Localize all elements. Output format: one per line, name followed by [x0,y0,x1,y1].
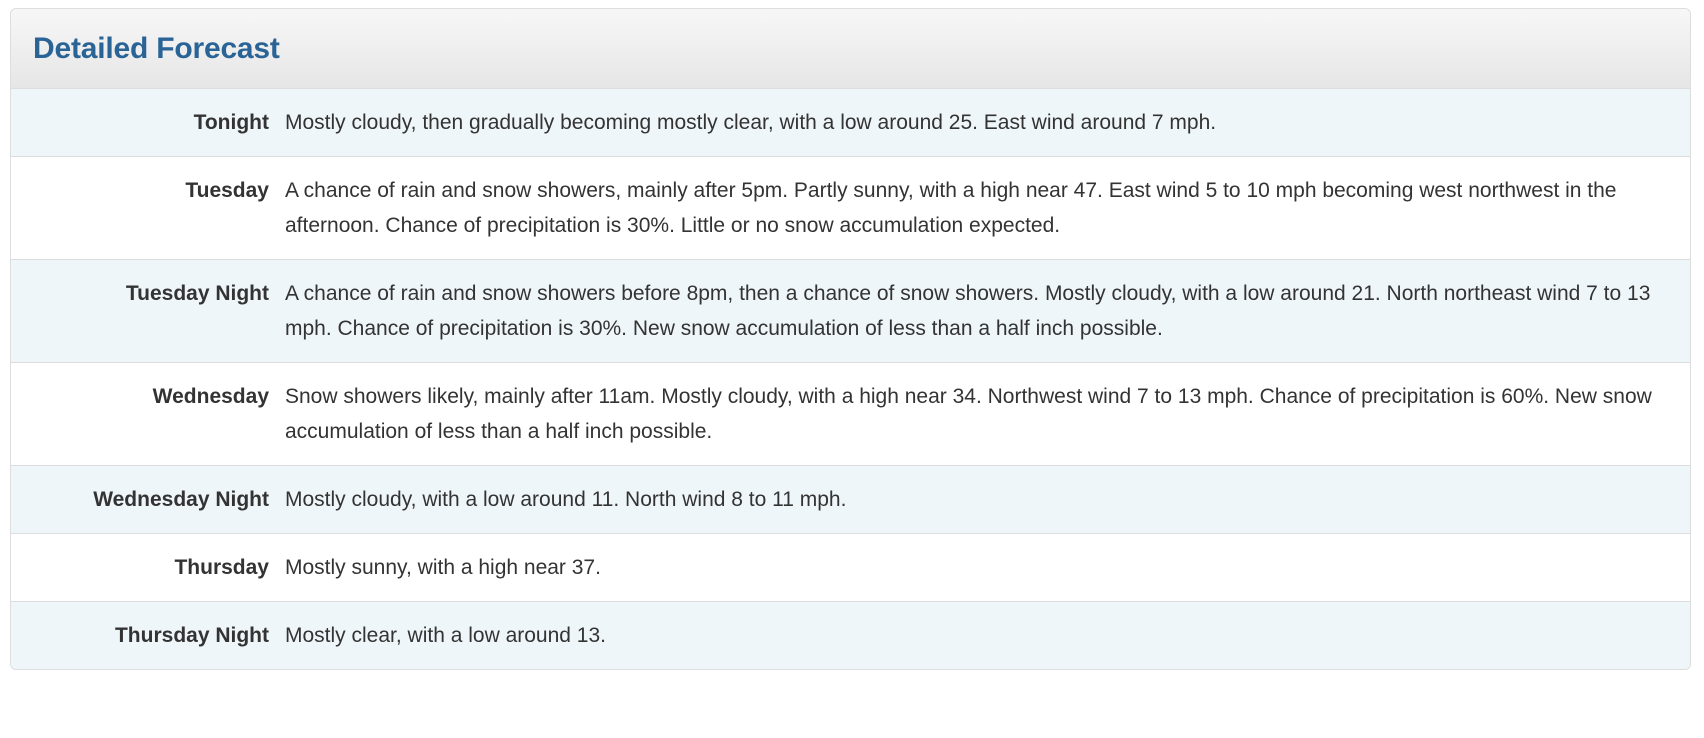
forecast-period-description: Mostly cloudy, with a low around 11. Nor… [277,466,1690,534]
forecast-period-description: A chance of rain and snow showers, mainl… [277,157,1690,260]
forecast-table-body: TonightMostly cloudy, then gradually bec… [11,89,1690,669]
forecast-period-label: Thursday Night [11,602,277,670]
forecast-row: WednesdaySnow showers likely, mainly aft… [11,363,1690,466]
forecast-period-description: A chance of rain and snow showers before… [277,260,1690,363]
panel-heading: Detailed Forecast [11,9,1690,89]
forecast-period-label: Wednesday [11,363,277,466]
forecast-period-description: Snow showers likely, mainly after 11am. … [277,363,1690,466]
forecast-row: ThursdayMostly sunny, with a high near 3… [11,534,1690,602]
forecast-row: TuesdayA chance of rain and snow showers… [11,157,1690,260]
forecast-period-description: Mostly sunny, with a high near 37. [277,534,1690,602]
forecast-period-label: Tuesday [11,157,277,260]
forecast-period-description: Mostly clear, with a low around 13. [277,602,1690,670]
detailed-forecast-panel: Detailed Forecast TonightMostly cloudy, … [10,8,1691,670]
forecast-period-label: Tonight [11,89,277,157]
forecast-row: Tuesday NightA chance of rain and snow s… [11,260,1690,363]
forecast-period-label: Tuesday Night [11,260,277,363]
forecast-period-description: Mostly cloudy, then gradually becoming m… [277,89,1690,157]
forecast-table: TonightMostly cloudy, then gradually bec… [11,89,1690,669]
page-title: Detailed Forecast [33,32,280,65]
panel-body: TonightMostly cloudy, then gradually bec… [11,89,1690,669]
forecast-period-label: Thursday [11,534,277,602]
forecast-row: Wednesday NightMostly cloudy, with a low… [11,466,1690,534]
forecast-period-label: Wednesday Night [11,466,277,534]
forecast-row: Thursday NightMostly clear, with a low a… [11,602,1690,670]
forecast-row: TonightMostly cloudy, then gradually bec… [11,89,1690,157]
